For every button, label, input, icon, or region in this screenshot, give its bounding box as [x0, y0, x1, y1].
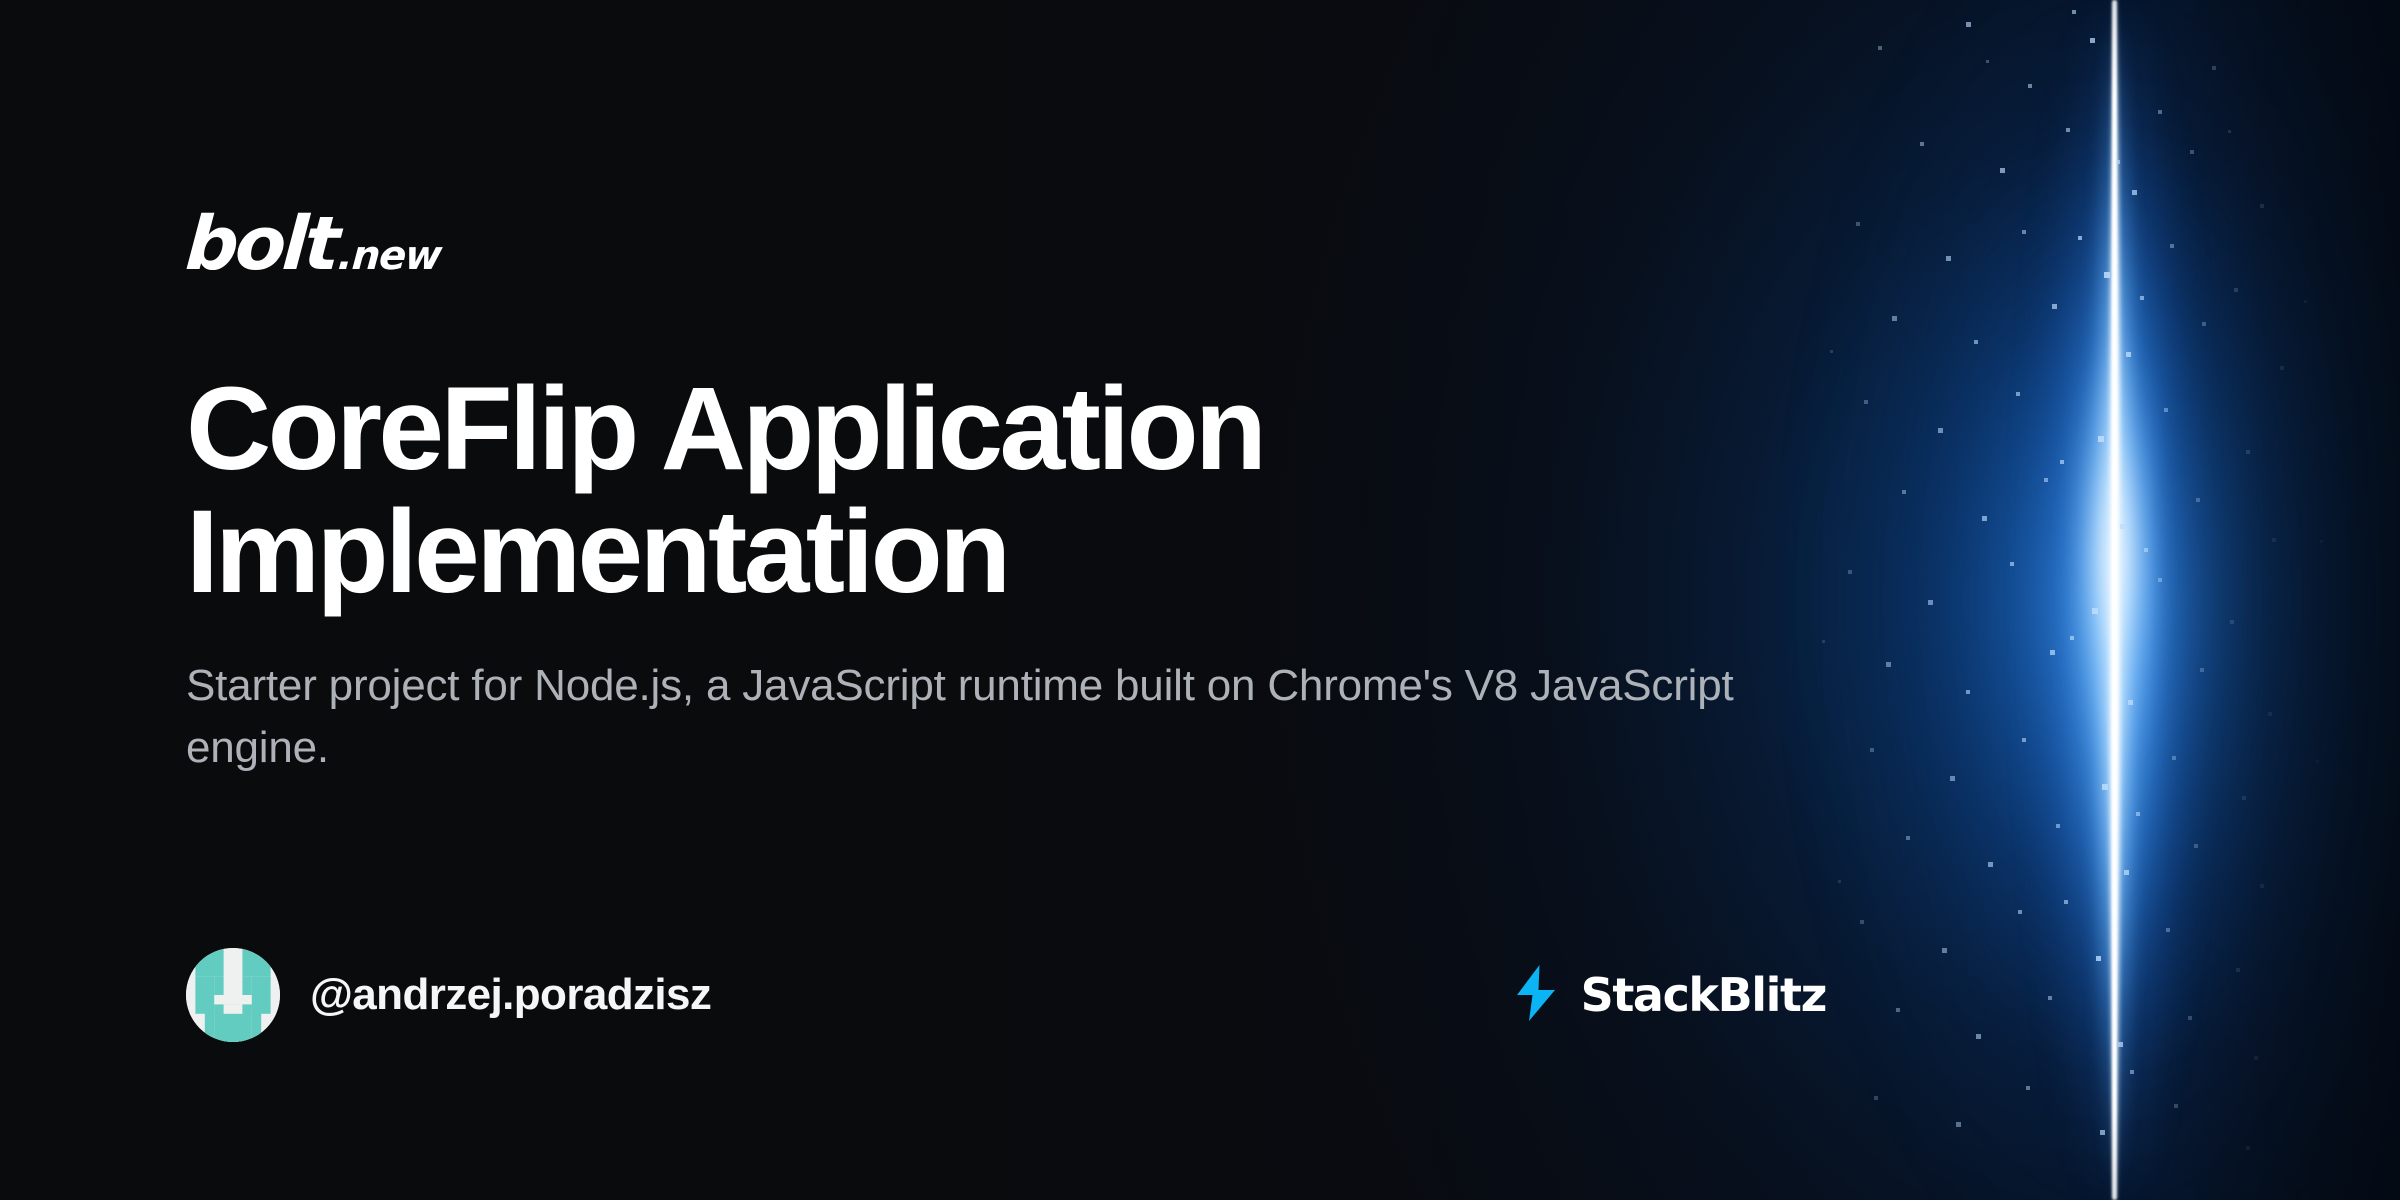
brand-tld: .new	[336, 236, 442, 276]
card-footer: @andrzej.poradzisz StackBlitz	[186, 940, 1826, 1050]
stackblitz-badge[interactable]: StackBlitz	[1513, 965, 1826, 1026]
identicon-avatar	[186, 948, 280, 1042]
right-edge-fade	[2150, 0, 2400, 1200]
page-description: Starter project for Node.js, a JavaScrip…	[186, 655, 1806, 780]
lightning-bolt-icon	[1513, 965, 1559, 1026]
page-title: CoreFlip Application Implementation	[186, 368, 1546, 613]
author-handle: @andrzej.poradzisz	[310, 970, 711, 1020]
author-block[interactable]: @andrzej.poradzisz	[186, 948, 711, 1042]
card-content: bolt .new CoreFlip Application Implement…	[186, 0, 1686, 1200]
open-graph-card: bolt .new CoreFlip Application Implement…	[0, 0, 2400, 1200]
stackblitz-wordmark: StackBlitz	[1581, 968, 1826, 1022]
bolt-new-logo[interactable]: bolt .new	[186, 207, 441, 287]
brand-wordmark: bolt	[183, 207, 339, 281]
